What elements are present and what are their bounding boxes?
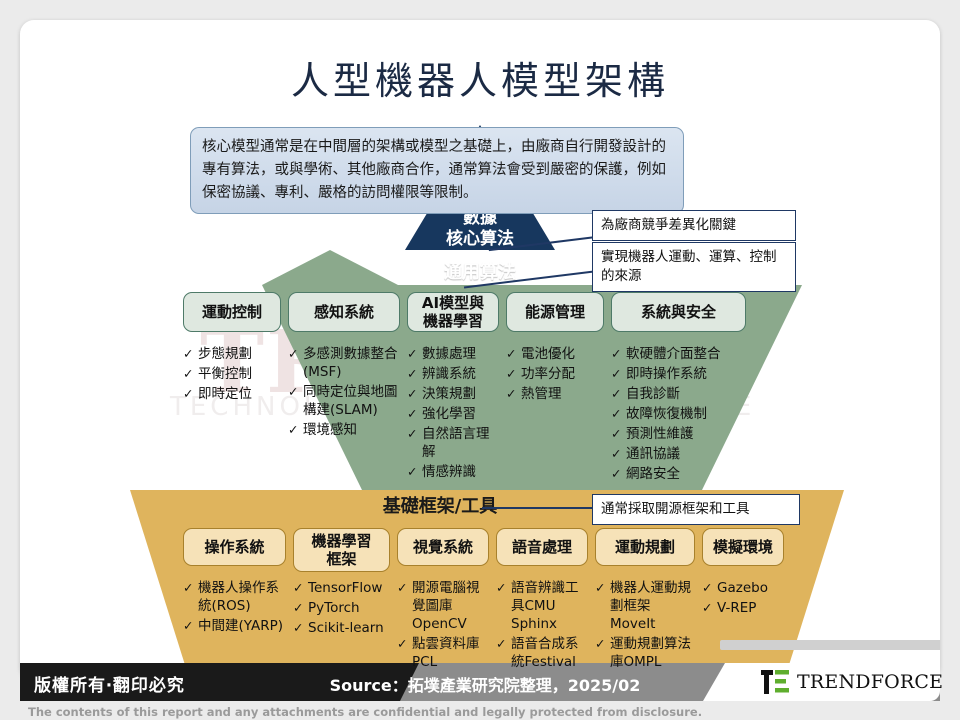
list-item: ✓機器人運動規劃框架MoveIt (595, 579, 695, 633)
base-header-4-label: 運動規劃 (615, 538, 675, 556)
middle-header-2[interactable]: AI模型與 機器學習 (407, 292, 499, 332)
list-item-label: 即時操作系統 (626, 365, 746, 383)
check-icon: ✓ (397, 635, 412, 653)
list-item-label: 網路安全 (626, 465, 746, 483)
list-item: ✓中間建(YARP) (183, 617, 286, 635)
pyramid-middle-label: 通用算法 (350, 258, 610, 284)
check-icon: ✓ (595, 635, 610, 653)
list-item: ✓數據處理 (407, 345, 499, 363)
middle-bullets-2: ✓數據處理 ✓辨識系統 ✓決策規劃 ✓強化學習 ✓自然語言理解 ✓情感辨識 (407, 345, 499, 485)
base-bullets-4: ✓機器人運動規劃框架MoveIt ✓運動規劃算法庫OMPL (595, 579, 695, 673)
list-item-label: 點雲資料庫PCL (412, 635, 489, 671)
check-icon: ✓ (496, 579, 511, 597)
list-item-label: 軟硬體介面整合 (626, 345, 746, 363)
list-item-label: 預測性維護 (626, 425, 746, 443)
check-icon: ✓ (407, 425, 422, 443)
list-item: ✓軟硬體介面整合 (611, 345, 746, 363)
middle-bullets-4: ✓軟硬體介面整合 ✓即時操作系統 ✓自我診斷 ✓故障恢復機制 ✓預測性維護 ✓通… (611, 345, 746, 485)
base-bullets-1: ✓TensorFlow ✓PyTorch ✓Scikit-learn (293, 579, 390, 673)
base-header-1-label-line1: 機器學習 (311, 532, 371, 550)
list-item-label: 通訊協議 (626, 445, 746, 463)
check-icon: ✓ (183, 345, 198, 363)
callout-base-tools: 通常採取開源框架和工具 (592, 494, 800, 525)
check-icon: ✓ (611, 365, 626, 383)
list-item-label: 強化學習 (422, 405, 499, 423)
list-item: ✓TensorFlow (293, 579, 390, 597)
list-item: ✓即時定位 (183, 385, 281, 403)
list-item: ✓熱管理 (506, 385, 604, 403)
list-item-label: Gazebo (717, 579, 784, 597)
list-item: ✓Scikit-learn (293, 619, 390, 637)
check-icon: ✓ (183, 365, 198, 383)
list-item: ✓平衡控制 (183, 365, 281, 383)
base-tier-bullet-columns: ✓機器人操作系統(ROS) ✓中間建(YARP) ✓TensorFlow ✓Py… (183, 579, 784, 673)
check-icon: ✓ (293, 579, 308, 597)
middle-bullets-3: ✓電池優化 ✓功率分配 ✓熱管理 (506, 345, 604, 485)
base-header-5-label: 模擬環境 (713, 538, 773, 556)
check-icon: ✓ (288, 383, 303, 401)
check-icon: ✓ (496, 635, 511, 653)
list-item-label: 功率分配 (521, 365, 604, 383)
middle-header-0[interactable]: 運動控制 (183, 292, 281, 332)
base-header-3[interactable]: 語音處理 (496, 528, 588, 566)
middle-header-3-label: 能源管理 (525, 303, 585, 321)
check-icon: ✓ (702, 599, 717, 617)
list-item-label: 多感測數據整合(MSF) (303, 345, 400, 381)
list-item: ✓通訊協議 (611, 445, 746, 463)
list-item-label: 平衡控制 (198, 365, 281, 383)
slide-canvas: 人型機器人模型架構 TRI TECHNOLOGY RESEARCH INSTIT… (20, 20, 940, 680)
middle-header-3[interactable]: 能源管理 (506, 292, 604, 332)
list-item: ✓V-REP (702, 599, 784, 617)
list-item: ✓決策規劃 (407, 385, 499, 403)
check-icon: ✓ (407, 405, 422, 423)
base-header-4[interactable]: 運動規劃 (595, 528, 695, 566)
list-item-label: 同時定位與地圖構建(SLAM) (303, 383, 400, 419)
check-icon: ✓ (183, 579, 198, 597)
trendforce-logo-text: TRENDFORCE (797, 671, 943, 693)
base-bullets-5: ✓Gazebo ✓V-REP (702, 579, 784, 673)
middle-bullets-1: ✓多感測數據整合(MSF) ✓同時定位與地圖構建(SLAM) ✓環境感知 (288, 345, 400, 485)
list-item: ✓語音合成系統Festival (496, 635, 588, 671)
middle-tier-bullet-columns: ✓步態規劃 ✓平衡控制 ✓即時定位 ✓多感測數據整合(MSF) ✓同時定位與地圖… (183, 345, 746, 485)
list-item-label: 運動規劃算法庫OMPL (610, 635, 695, 671)
list-item: ✓開源電腦視覺圖庫OpenCV (397, 579, 489, 633)
list-item-label: V-REP (717, 599, 784, 617)
callout-general-algo: 實現機器人運動、運算、控制的來源 (592, 242, 796, 292)
check-icon: ✓ (611, 465, 626, 483)
base-header-1[interactable]: 機器學習 框架 (293, 528, 390, 572)
check-icon: ✓ (397, 579, 412, 597)
check-icon: ✓ (288, 421, 303, 439)
page-title: 人型機器人模型架構 (20, 50, 940, 105)
check-icon: ✓ (293, 619, 308, 637)
check-icon: ✓ (611, 345, 626, 363)
check-icon: ✓ (506, 345, 521, 363)
check-icon: ✓ (702, 579, 717, 597)
list-item-label: 語音合成系統Festival (511, 635, 588, 671)
list-item: ✓機器人操作系統(ROS) (183, 579, 286, 615)
base-bullets-2: ✓開源電腦視覺圖庫OpenCV ✓點雲資料庫PCL (397, 579, 489, 673)
base-header-0-label: 操作系統 (204, 538, 264, 556)
base-tier-header-row: 操作系統 機器學習 框架 視覺系統 語音處理 運動規劃 模擬環境 (183, 528, 784, 572)
list-item: ✓功率分配 (506, 365, 604, 383)
base-bullets-0: ✓機器人操作系統(ROS) ✓中間建(YARP) (183, 579, 286, 673)
list-item: ✓環境感知 (288, 421, 400, 439)
list-item-label: TensorFlow (308, 579, 390, 597)
list-item: ✓辨識系統 (407, 365, 499, 383)
check-icon: ✓ (293, 599, 308, 617)
middle-header-1-label: 感知系統 (314, 303, 374, 321)
base-header-3-label: 語音處理 (512, 538, 572, 556)
check-icon: ✓ (506, 385, 521, 403)
list-item: ✓自我診斷 (611, 385, 746, 403)
check-icon: ✓ (407, 345, 422, 363)
check-icon: ✓ (595, 579, 610, 597)
middle-header-4-label: 系統與安全 (641, 303, 716, 321)
pyramid-base-label: 基礎框架/工具 (300, 492, 580, 518)
base-header-0[interactable]: 操作系統 (183, 528, 286, 566)
base-bullets-3: ✓語音辨識工具CMU Sphinx ✓語音合成系統Festival (496, 579, 588, 673)
check-icon: ✓ (611, 445, 626, 463)
check-icon: ✓ (611, 425, 626, 443)
middle-header-2-label-line2: 機器學習 (423, 312, 483, 330)
middle-bullets-0: ✓步態規劃 ✓平衡控制 ✓即時定位 (183, 345, 281, 485)
trendforce-logo: TRENDFORCE (760, 669, 943, 695)
list-item-label: 電池優化 (521, 345, 604, 363)
list-item: ✓情感辨識 (407, 463, 499, 481)
list-item: ✓步態規劃 (183, 345, 281, 363)
callout-core-model: 核心模型通常是在中間層的架構或模型之基礎上，由廠商自行開發設計的專有算法，或與學… (190, 127, 684, 214)
check-icon: ✓ (407, 463, 422, 481)
list-item-label: 數據處理 (422, 345, 499, 363)
middle-header-0-label: 運動控制 (202, 303, 262, 321)
list-item: ✓運動規劃算法庫OMPL (595, 635, 695, 671)
base-header-1-label-line2: 框架 (326, 550, 356, 568)
legal-disclaimer: The contents of this report and any atta… (28, 705, 702, 719)
list-item-label: 語音辨識工具CMU Sphinx (511, 579, 588, 633)
middle-header-2-label-line1: AI模型與 (422, 294, 484, 312)
check-icon: ✓ (407, 385, 422, 403)
list-item: ✓Gazebo (702, 579, 784, 597)
base-header-5[interactable]: 模擬環境 (702, 528, 784, 566)
leader-line-base-tools (482, 507, 597, 509)
list-item: ✓點雲資料庫PCL (397, 635, 489, 671)
list-item: ✓語音辨識工具CMU Sphinx (496, 579, 588, 633)
list-item: ✓預測性維護 (611, 425, 746, 443)
list-item: ✓電池優化 (506, 345, 604, 363)
list-item-label: 步態規劃 (198, 345, 281, 363)
check-icon: ✓ (183, 617, 198, 635)
list-item: ✓故障恢復機制 (611, 405, 746, 423)
middle-header-4[interactable]: 系統與安全 (611, 292, 746, 332)
base-header-2-label: 視覺系統 (413, 538, 473, 556)
list-item: ✓強化學習 (407, 405, 499, 423)
list-item: ✓網路安全 (611, 465, 746, 483)
list-item: ✓多感測數據整合(MSF) (288, 345, 400, 381)
pyramid-top-label-line2: 核心算法 (405, 229, 555, 250)
base-header-2[interactable]: 視覺系統 (397, 528, 489, 566)
check-icon: ✓ (407, 365, 422, 383)
list-item-label: 情感辨識 (422, 463, 499, 481)
source-text: Source：拓墣產業研究院整理，2025/02 (250, 672, 720, 696)
copyright-text: 版權所有‧翻印必究 (34, 671, 185, 696)
list-item-label: 決策規劃 (422, 385, 499, 403)
check-icon: ✓ (611, 385, 626, 403)
middle-tier-header-row: 運動控制 感知系統 AI模型與 機器學習 能源管理 系統與安全 (183, 292, 746, 332)
list-item: ✓自然語言理解 (407, 425, 499, 461)
middle-header-1[interactable]: 感知系統 (288, 292, 400, 332)
list-item-label: 故障恢復機制 (626, 405, 746, 423)
list-item: ✓PyTorch (293, 599, 390, 617)
check-icon: ✓ (611, 405, 626, 423)
list-item-label: 自然語言理解 (422, 425, 499, 461)
list-item-label: 自我診斷 (626, 385, 746, 403)
list-item-label: Scikit-learn (308, 619, 390, 637)
callout-core-algo: 為廠商競爭差異化關鍵 (592, 210, 796, 241)
list-item-label: 熱管理 (521, 385, 604, 403)
check-icon: ✓ (506, 365, 521, 383)
check-icon: ✓ (183, 385, 198, 403)
check-icon: ✓ (288, 345, 303, 363)
list-item-label: 機器人操作系統(ROS) (198, 579, 286, 615)
list-item: ✓同時定位與地圖構建(SLAM) (288, 383, 400, 419)
list-item-label: 中間建(YARP) (198, 617, 286, 635)
list-item-label: 辨識系統 (422, 365, 499, 383)
list-item-label: 環境感知 (303, 421, 400, 439)
list-item-label: 即時定位 (198, 385, 281, 403)
list-item: ✓即時操作系統 (611, 365, 746, 383)
list-item-label: PyTorch (308, 599, 390, 617)
list-item-label: 機器人運動規劃框架MoveIt (610, 579, 695, 633)
list-item-label: 開源電腦視覺圖庫OpenCV (412, 579, 489, 633)
